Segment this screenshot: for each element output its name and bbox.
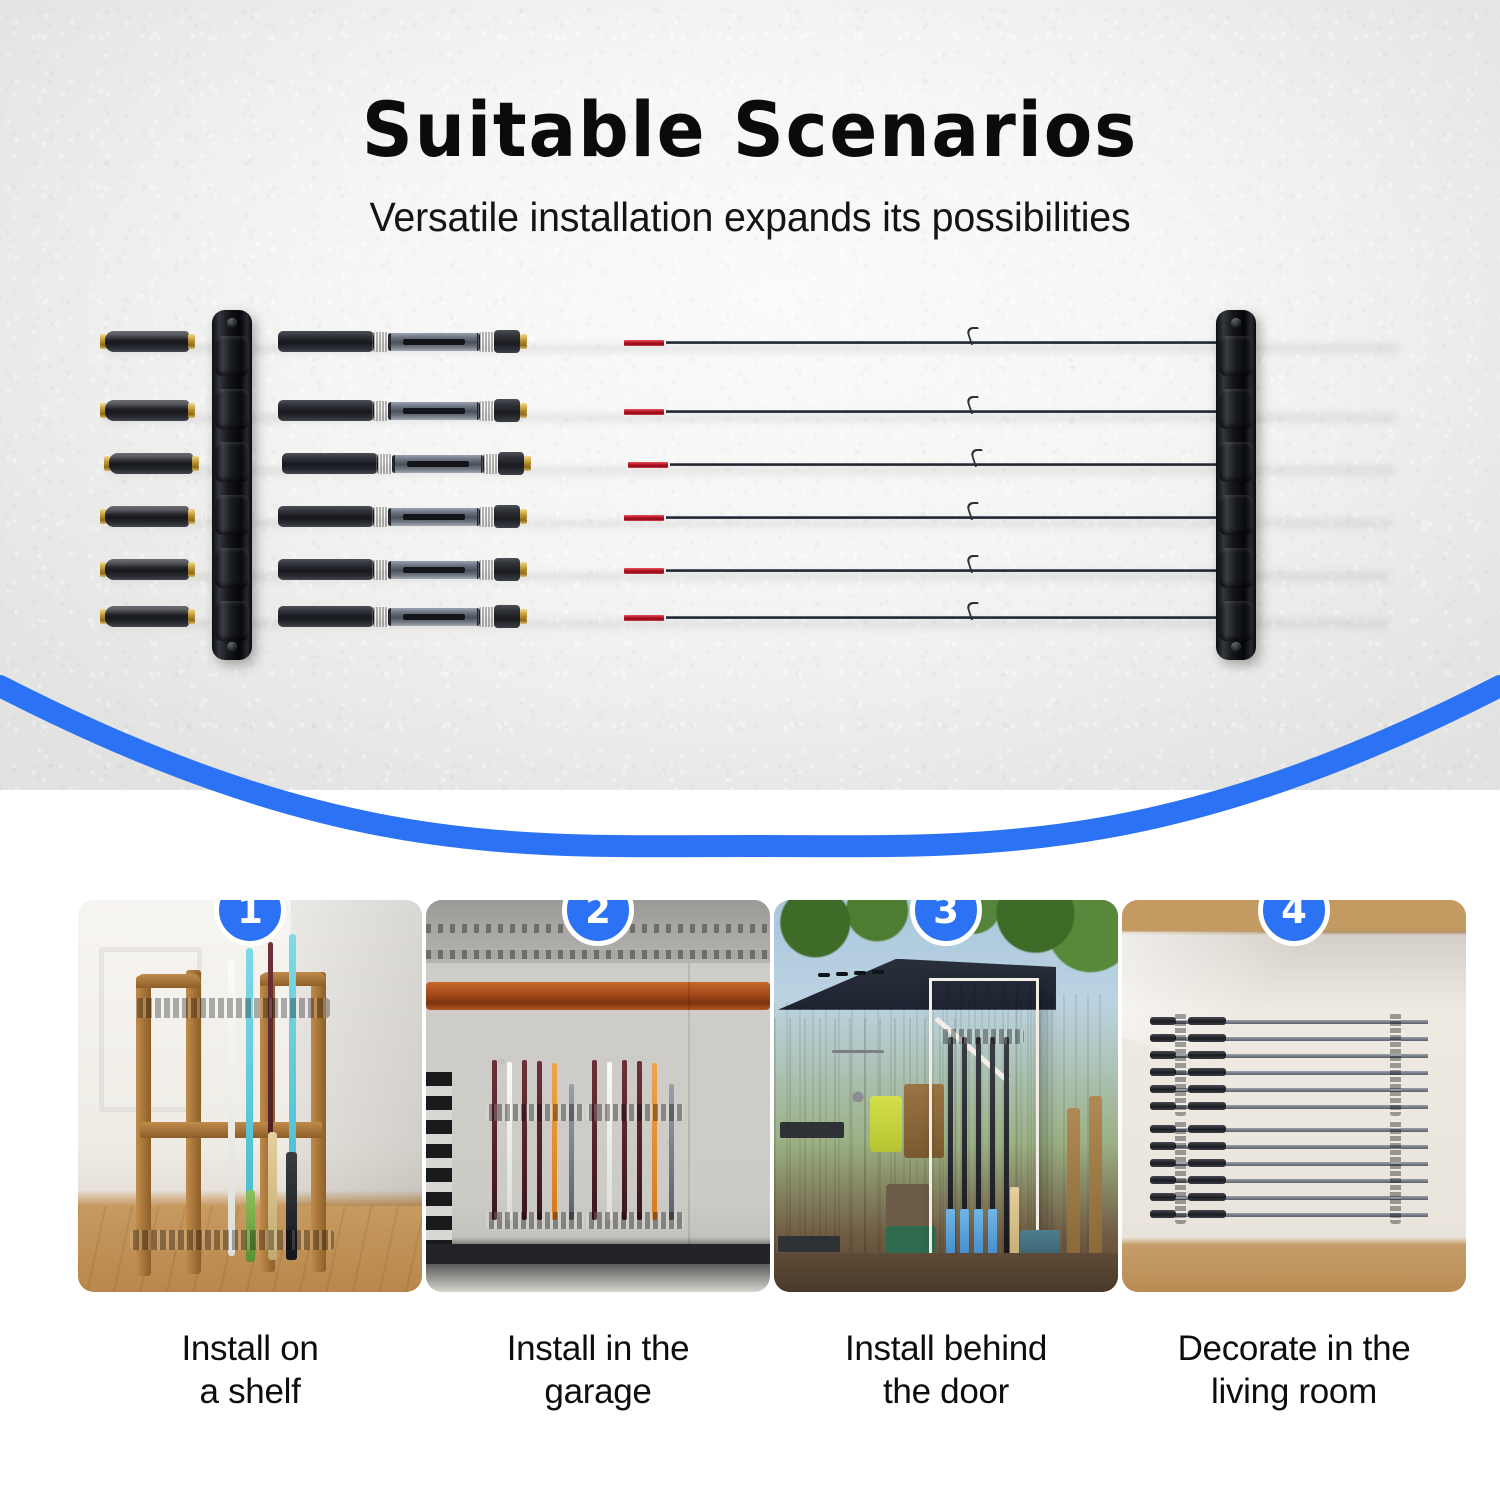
fore-grip [278, 331, 374, 352]
interior-shelf-2 [778, 1236, 840, 1252]
yellow-towel [870, 1096, 902, 1152]
lock-nut-upper [478, 560, 495, 580]
lr-grip-u5 [1150, 1085, 1176, 1093]
lock-nut-lower [372, 507, 389, 527]
scenario-card-2[interactable]: 2 Install in the garage [426, 900, 770, 1413]
rod-blank-upper [974, 516, 1242, 518]
rod-tip [1246, 411, 1392, 413]
rod-a2 [507, 1062, 512, 1220]
rod-b3 [622, 1060, 627, 1220]
caption-line-2: living room [1122, 1371, 1466, 1414]
rod-blank-upper [974, 341, 1242, 343]
rod-b5 [652, 1063, 657, 1220]
lr-rack-upper-left [1175, 1012, 1186, 1116]
blank-collar [494, 505, 520, 528]
rack-slot-3 [215, 442, 249, 482]
reel-seat [388, 508, 480, 526]
red-wrap-accent [624, 409, 664, 415]
lr-grip-l2 [1150, 1142, 1176, 1150]
fore-grip [282, 453, 378, 474]
blue-wave-divider [0, 650, 1500, 890]
rack-bar-b-top [586, 1104, 684, 1121]
lr-seat-u1 [1188, 1017, 1226, 1025]
lock-nut-lower [372, 607, 389, 627]
lr-seat-l2 [1188, 1142, 1226, 1150]
ceiling-joist-2 [426, 950, 770, 959]
lr-seat-u2 [1188, 1034, 1226, 1042]
door-rod-5 [1004, 1037, 1009, 1265]
butt-grip [105, 606, 189, 627]
lr-rack-upper-right [1390, 1012, 1401, 1116]
lr-seat-u4 [1188, 1068, 1226, 1076]
rod-tip [1246, 570, 1388, 572]
rod-a1 [492, 1060, 497, 1220]
roof-vent-4 [872, 970, 884, 974]
caption-line-2: a shelf [78, 1371, 422, 1414]
butt-grip [105, 559, 189, 580]
scene-shelf [78, 900, 422, 1292]
rack-slot-1 [215, 336, 249, 376]
rack-slot-4 [215, 495, 249, 535]
rod-a3 [522, 1060, 527, 1220]
scenario-card-3[interactable]: 3 Install behind the door [774, 900, 1118, 1413]
lock-nut-upper [482, 454, 499, 474]
lr-grip-l4 [1150, 1176, 1176, 1184]
scenario-photo-garage: 2 [426, 900, 770, 1292]
lr-seat-l1 [1188, 1125, 1226, 1133]
caption-card-4: Decorate in the living room [1122, 1328, 1466, 1413]
wall-rack-right [1216, 310, 1256, 660]
rod-blank-upper [978, 463, 1246, 465]
rack-bar-b-bottom [586, 1212, 684, 1229]
fishing-rod-5 [100, 553, 1388, 587]
rack-slot-5 [215, 548, 249, 588]
red-wrap-accent [624, 568, 664, 574]
fishing-rod-4 [100, 500, 1390, 534]
door-rack-top [940, 1029, 1024, 1044]
scenario-photo-shelf: 1 [78, 900, 422, 1292]
caption-line-2: the door [774, 1371, 1118, 1414]
rack-slot-2 [1219, 389, 1253, 429]
rod-blank-mid [666, 341, 976, 344]
rod-a4 [537, 1061, 542, 1220]
rack-slot-6 [215, 601, 249, 641]
lock-nut-lower [372, 401, 389, 421]
butt-grip [109, 453, 193, 474]
page-title: Suitable Scenarios [53, 92, 1448, 168]
blank-collar [494, 605, 520, 628]
rod-blank-upper [974, 616, 1242, 618]
butt-grip [105, 331, 189, 352]
lr-grip-u1 [1150, 1017, 1176, 1025]
caption-line-1: Install on [78, 1328, 422, 1371]
red-wrap-accent [624, 340, 664, 346]
red-wrap-accent [628, 462, 668, 468]
rod-tip [1246, 342, 1395, 344]
rod-tip [1246, 517, 1390, 519]
lr-grip-u2 [1150, 1034, 1176, 1042]
rack-bar-a-top [486, 1104, 584, 1121]
fore-grip [278, 400, 374, 421]
lock-nut-upper [478, 507, 495, 527]
caption-line-2: garage [426, 1371, 770, 1414]
fishing-rod-6 [100, 600, 1386, 634]
lr-grip-l5 [1150, 1193, 1176, 1201]
rod-blank-mid [666, 616, 976, 619]
rack-slot-6 [1219, 601, 1253, 641]
rod-tip [1250, 464, 1392, 466]
rod-tip [1246, 617, 1386, 619]
rack-screw-top [1231, 318, 1241, 328]
rod-b2 [607, 1062, 612, 1220]
reel-seat [388, 561, 480, 579]
lr-seat-u5 [1188, 1085, 1226, 1093]
heading-block: Suitable Scenarios Versatile installatio… [0, 92, 1500, 241]
rack-bar-bottom [130, 1230, 334, 1250]
rack-slot-3 [1219, 442, 1253, 482]
wall-seam [688, 963, 690, 1253]
scenario-photo-living-room: 4 [1122, 900, 1466, 1292]
rack-slot-5 [1219, 548, 1253, 588]
fore-grip [278, 606, 374, 627]
lr-grip-u3 [1150, 1051, 1176, 1059]
lock-nut-upper [478, 607, 495, 627]
rod-blank-upper [974, 569, 1242, 571]
rod-blank-mid [666, 516, 976, 519]
rod-blank-mid [670, 463, 980, 466]
reel-seat [388, 402, 480, 420]
caption-line-1: Install in the [426, 1328, 770, 1371]
lock-nut-lower [372, 560, 389, 580]
scene-shed [774, 900, 1118, 1292]
lr-seat-l5 [1188, 1193, 1226, 1201]
scenario-card-4[interactable]: 4 Decorate in the living room [1122, 900, 1466, 1413]
rack-bar-a-bottom [486, 1212, 584, 1229]
rod-b1 [592, 1060, 597, 1220]
rack-bar-top [134, 998, 330, 1018]
scenario-card-1[interactable]: 1 Install on a shelf [78, 900, 422, 1413]
shovel-handle-1 [1067, 1108, 1080, 1258]
lr-seat-u3 [1188, 1051, 1226, 1059]
rack-slot-1 [1219, 336, 1253, 376]
rod-blank-mid [666, 410, 976, 413]
fishing-rod-3 [104, 447, 1392, 481]
lr-grip-u4 [1150, 1068, 1176, 1076]
fore-grip [278, 506, 374, 527]
rod-blank-mid [666, 569, 976, 572]
rod-a5 [552, 1063, 557, 1220]
rake-tool [832, 1050, 884, 1102]
storage-basket [886, 1184, 930, 1226]
butt-grip [105, 506, 189, 527]
caption-line-1: Install behind [774, 1328, 1118, 1371]
scenario-cards: 1 Install on a shelf [0, 900, 1500, 1500]
shed-floor [774, 1253, 1118, 1292]
lock-nut-upper [478, 401, 495, 421]
rack-slot-2 [215, 389, 249, 429]
lr-grip-l6 [1150, 1210, 1176, 1218]
rack-screw-top [227, 318, 237, 328]
lr-rack-lower-left [1175, 1120, 1186, 1224]
lr-rack-lower-right [1390, 1120, 1401, 1224]
fishing-rod-2 [100, 394, 1392, 428]
garage-baseboard [426, 1244, 770, 1264]
blank-collar [494, 399, 520, 422]
lock-nut-lower [372, 332, 389, 352]
door-brace [934, 1017, 1010, 1084]
reel-seat [392, 455, 484, 473]
blank-collar [498, 452, 524, 475]
lr-grip-u6 [1150, 1102, 1176, 1110]
wall-rack-left [212, 310, 252, 660]
lr-seat-u6 [1188, 1102, 1226, 1110]
lr-grip-l3 [1150, 1159, 1176, 1167]
scene-garage [426, 900, 770, 1292]
striped-post [426, 1072, 452, 1252]
red-wrap-accent [624, 515, 664, 521]
rack-slot-4 [1219, 495, 1253, 535]
roof-vent-2 [836, 972, 848, 976]
caption-line-1: Decorate in the [1122, 1328, 1466, 1371]
reel-seat [388, 608, 480, 626]
reel-seat [388, 333, 480, 351]
fishing-rod-1 [100, 325, 1395, 359]
caption-card-2: Install in the garage [426, 1328, 770, 1413]
scene-living-room [1122, 900, 1466, 1292]
butt-grip [105, 400, 189, 421]
lr-grip-l1 [1150, 1125, 1176, 1133]
rod-b4 [637, 1061, 642, 1220]
shelf-handle-left [136, 974, 201, 988]
lock-nut-upper [478, 332, 495, 352]
lock-nut-lower [376, 454, 393, 474]
caption-card-3: Install behind the door [774, 1328, 1118, 1413]
blank-collar [494, 558, 520, 581]
roof-vent-1 [818, 973, 830, 977]
caption-card-1: Install on a shelf [78, 1328, 422, 1413]
lr-seat-l6 [1188, 1210, 1226, 1218]
rod-blank-upper [974, 410, 1242, 412]
scenario-photo-shed-door: 3 [774, 900, 1118, 1292]
rod-green-butt [246, 1190, 255, 1262]
roof-vent-3 [854, 971, 866, 975]
lr-seat-l3 [1188, 1159, 1226, 1167]
red-wrap-accent [624, 615, 664, 621]
lr-seat-l4 [1188, 1176, 1226, 1184]
page-subtitle: Versatile installation expands its possi… [30, 194, 1470, 241]
fore-grip [278, 559, 374, 580]
blank-collar [494, 330, 520, 353]
interior-shelf-1 [780, 1122, 844, 1138]
shovel-handle-2 [1089, 1096, 1102, 1258]
